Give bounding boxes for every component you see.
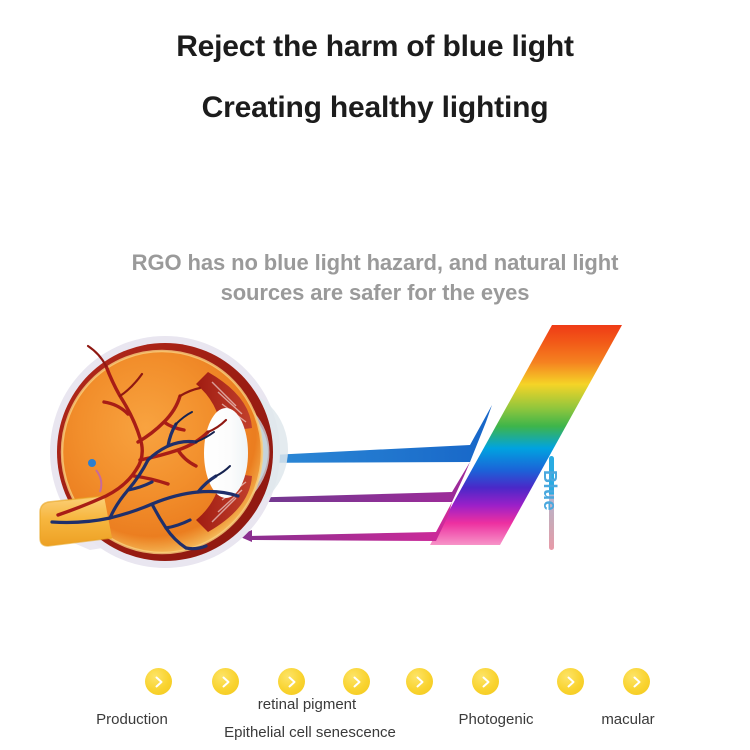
- chevron-badge-2[interactable]: [212, 668, 239, 695]
- chevron-right-icon: [152, 675, 166, 689]
- chevron-right-icon: [219, 675, 233, 689]
- chevron-right-icon: [564, 675, 578, 689]
- illustration-stage: [0, 310, 750, 600]
- chevron-badge-5[interactable]: [406, 668, 433, 695]
- subtitle-line-1: RGO has no blue light hazard, and natura…: [40, 248, 710, 278]
- chevron-badge-1[interactable]: [145, 668, 172, 695]
- chevron-right-icon: [285, 675, 299, 689]
- footer-label-production: Production: [72, 710, 192, 730]
- title-line-1: Reject the harm of blue light: [0, 32, 750, 62]
- infographic-page: Reject the harm of blue light Creating h…: [0, 0, 750, 750]
- footer-label-epithelial-cell-senescence: Epithelial cell senescence: [190, 723, 430, 743]
- process-badge-strip: Production retinal pigment Epithelial ce…: [0, 668, 750, 750]
- title-line-2: Creating healthy lighting: [0, 93, 750, 123]
- blue-marker-label: Blue: [539, 470, 560, 511]
- subtitle: RGO has no blue light hazard, and natura…: [0, 248, 750, 307]
- chevron-right-icon: [630, 675, 644, 689]
- eye-and-spectrum-illustration: [0, 310, 750, 600]
- footer-label-retinal-pigment: retinal pigment: [222, 695, 392, 715]
- chevron-right-icon: [479, 675, 493, 689]
- chevron-badge-7[interactable]: [557, 668, 584, 695]
- visible-light-spectrum-band: [430, 325, 622, 545]
- subtitle-line-2: sources are safer for the eyes: [40, 278, 710, 308]
- page-title: Reject the harm of blue light Creating h…: [0, 32, 750, 123]
- chevron-badge-8[interactable]: [623, 668, 650, 695]
- chevron-right-icon: [350, 675, 364, 689]
- footer-label-photogenic: Photogenic: [436, 710, 556, 730]
- chevron-right-icon: [413, 675, 427, 689]
- chevron-badge-4[interactable]: [343, 668, 370, 695]
- chevron-badge-3[interactable]: [278, 668, 305, 695]
- footer-label-macular: macular: [578, 710, 678, 730]
- chevron-badge-6[interactable]: [472, 668, 499, 695]
